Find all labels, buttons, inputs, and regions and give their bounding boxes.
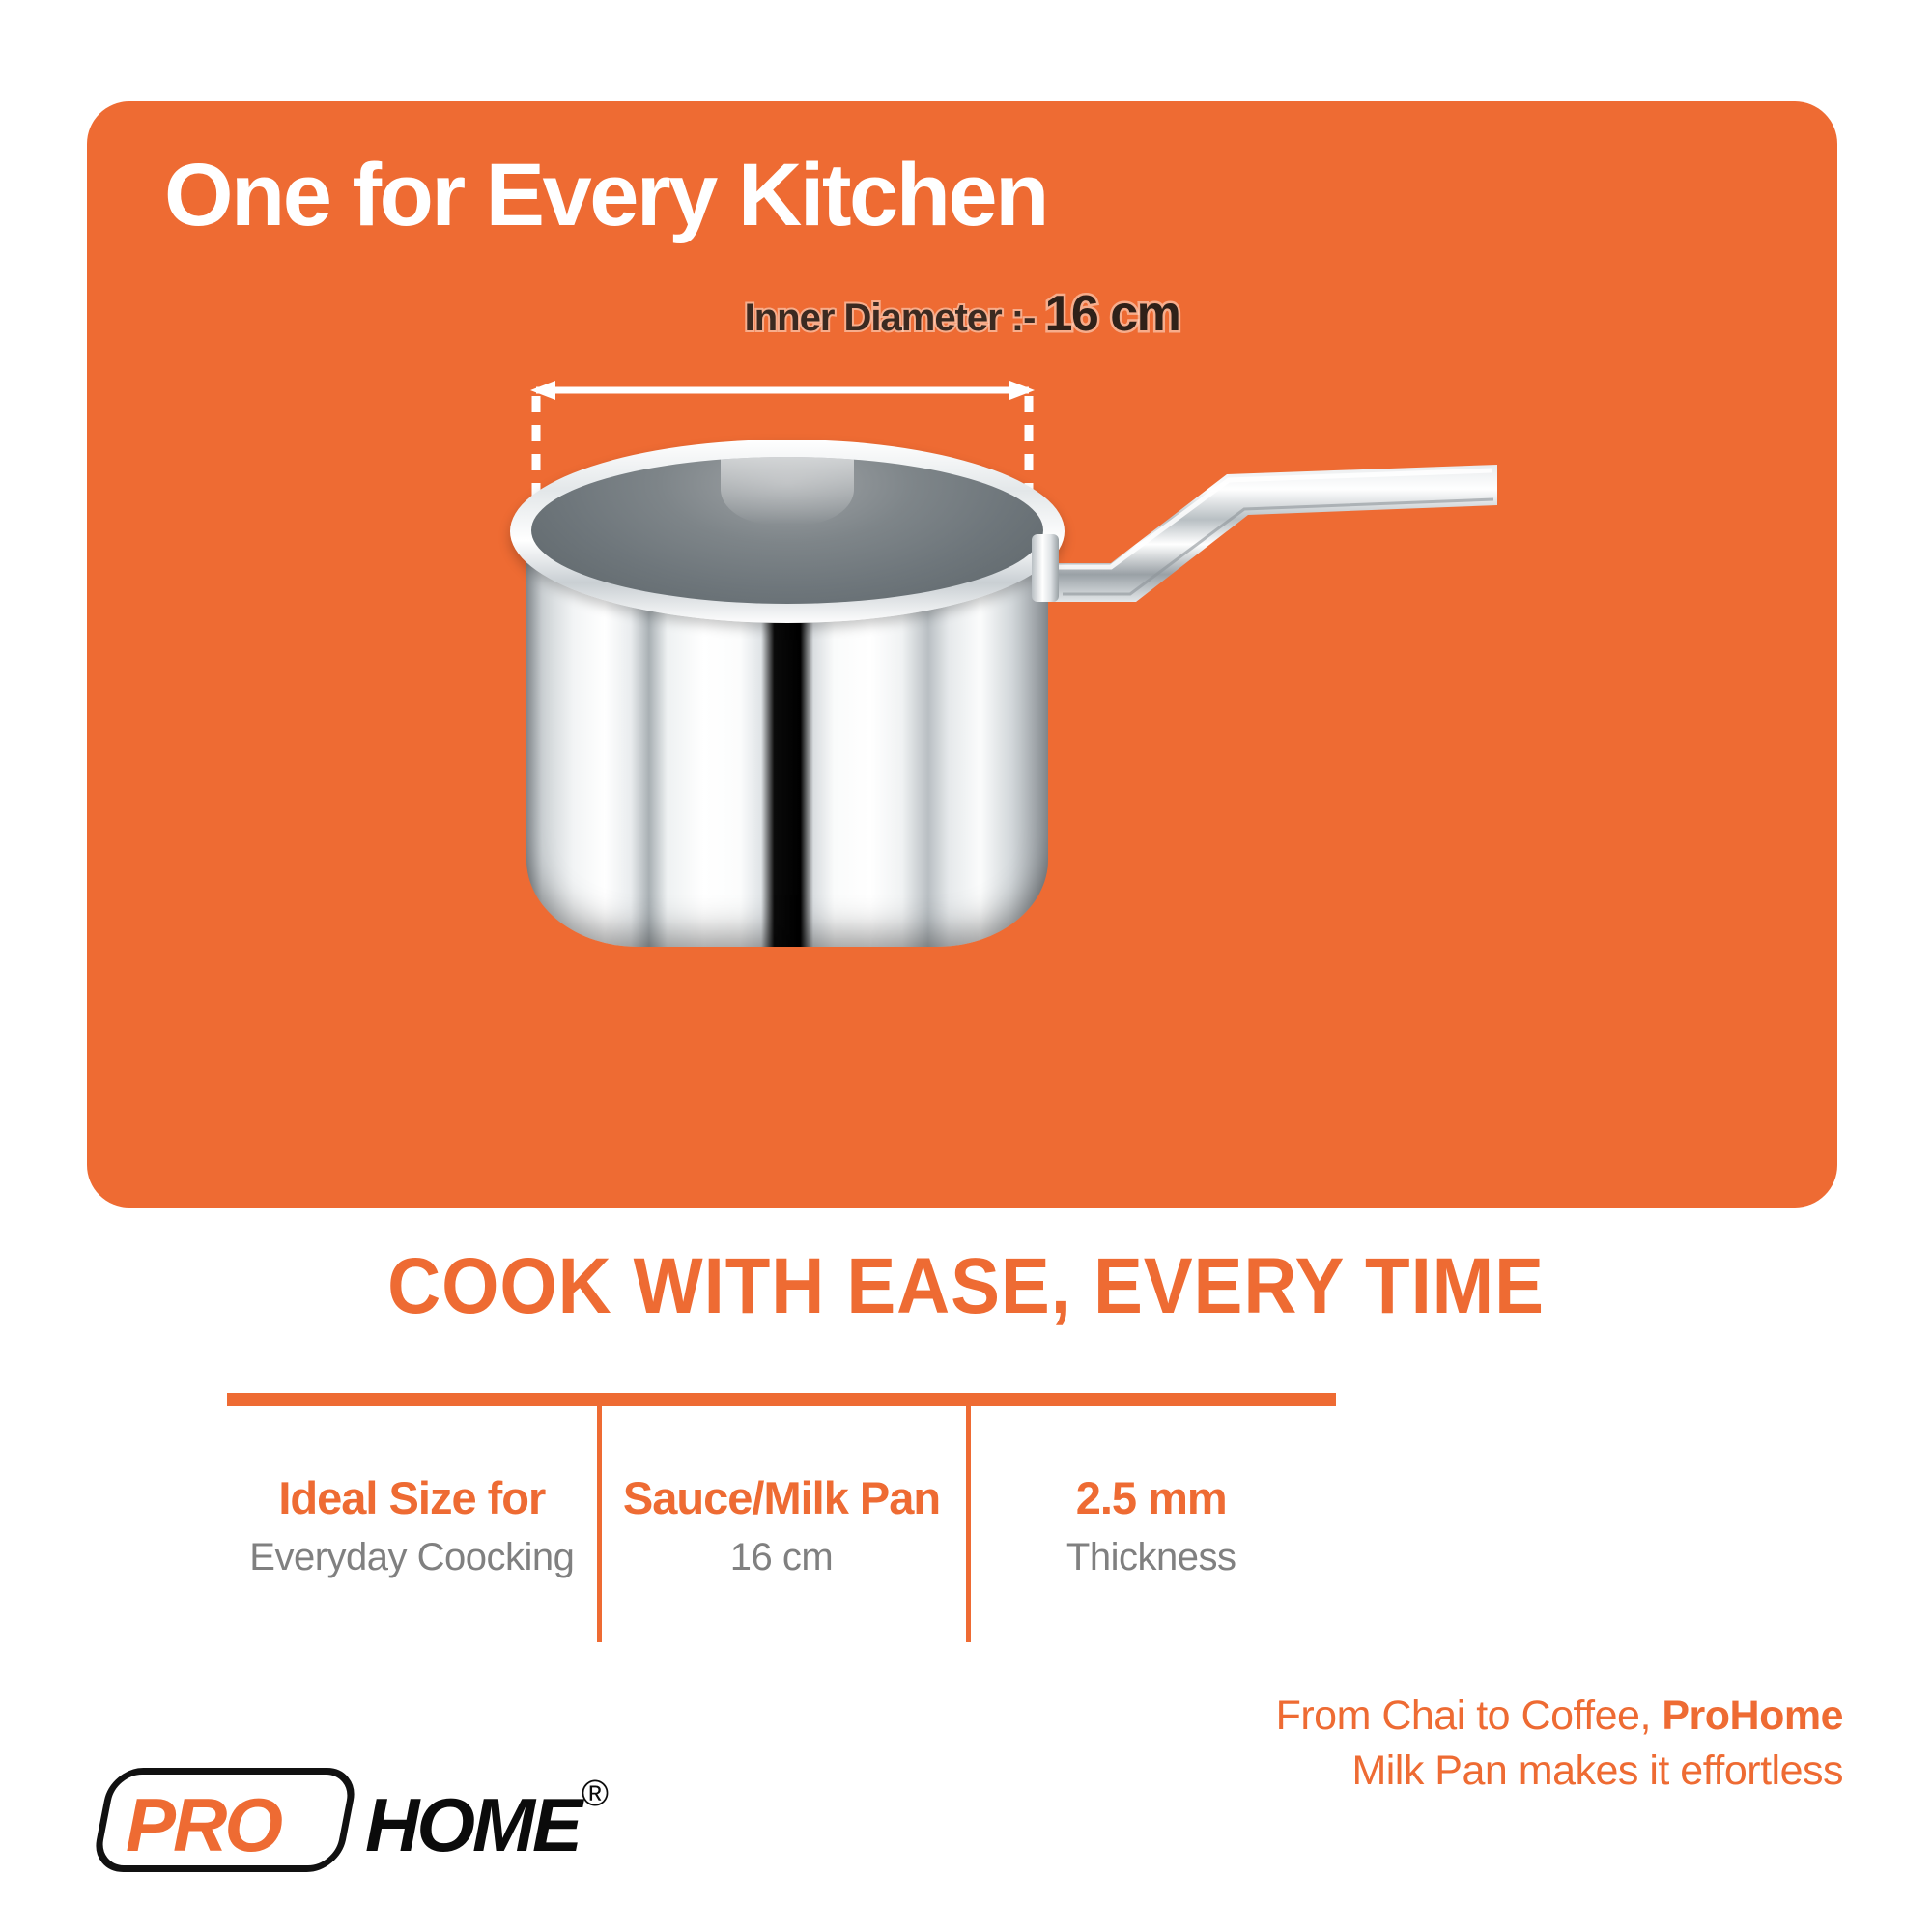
feature-title: Sauce/Milk Pan (597, 1471, 967, 1524)
logo-pro-text: PRO (126, 1781, 280, 1869)
feature-title: 2.5 mm (966, 1471, 1336, 1524)
feature-item-thickness: 2.5 mm Thickness (966, 1406, 1336, 1647)
pan-interior (531, 457, 1043, 604)
blurb-line-2: Milk Pan makes it effortless (1276, 1744, 1843, 1799)
feature-divider-rule (227, 1393, 1336, 1406)
inner-diameter-value: 16 cm (1044, 286, 1179, 342)
feature-subtitle: 16 cm (597, 1536, 967, 1579)
main-tagline: COOK WITH EASE, EVERY TIME (68, 1241, 1864, 1332)
inner-diameter-label: Inner Diameter :-16 cm (87, 285, 1837, 343)
feature-strip: Ideal Size for Everyday Coocking Sauce/M… (227, 1406, 1336, 1647)
blurb-line-1-prefix: From Chai to Coffee, (1276, 1692, 1662, 1739)
inner-diameter-text: Inner Diameter :- (745, 297, 1036, 339)
blurb-brand-name: ProHome (1662, 1692, 1843, 1739)
pan-handle-rivet (1032, 534, 1059, 602)
brand-logo: PRO HOME ® (79, 1760, 659, 1881)
closing-blurb: From Chai to Coffee, ProHome Milk Pan ma… (1276, 1689, 1843, 1799)
feature-item-ideal-size: Ideal Size for Everyday Coocking (227, 1406, 597, 1647)
page-title: One for Every Kitchen (164, 145, 1047, 246)
product-image-saucepan (435, 420, 1517, 1019)
hero-panel: One for Every Kitchen Inner Diameter :-1… (87, 101, 1837, 1207)
logo-home-text: HOME (365, 1781, 580, 1869)
registered-trademark-icon: ® (582, 1774, 609, 1815)
feature-item-pan-type: Sauce/Milk Pan 16 cm (597, 1406, 967, 1647)
feature-title: Ideal Size for (227, 1471, 597, 1524)
feature-subtitle: Thickness (966, 1536, 1336, 1579)
feature-subtitle: Everyday Coocking (227, 1536, 597, 1579)
blurb-line-1: From Chai to Coffee, ProHome (1276, 1689, 1843, 1744)
